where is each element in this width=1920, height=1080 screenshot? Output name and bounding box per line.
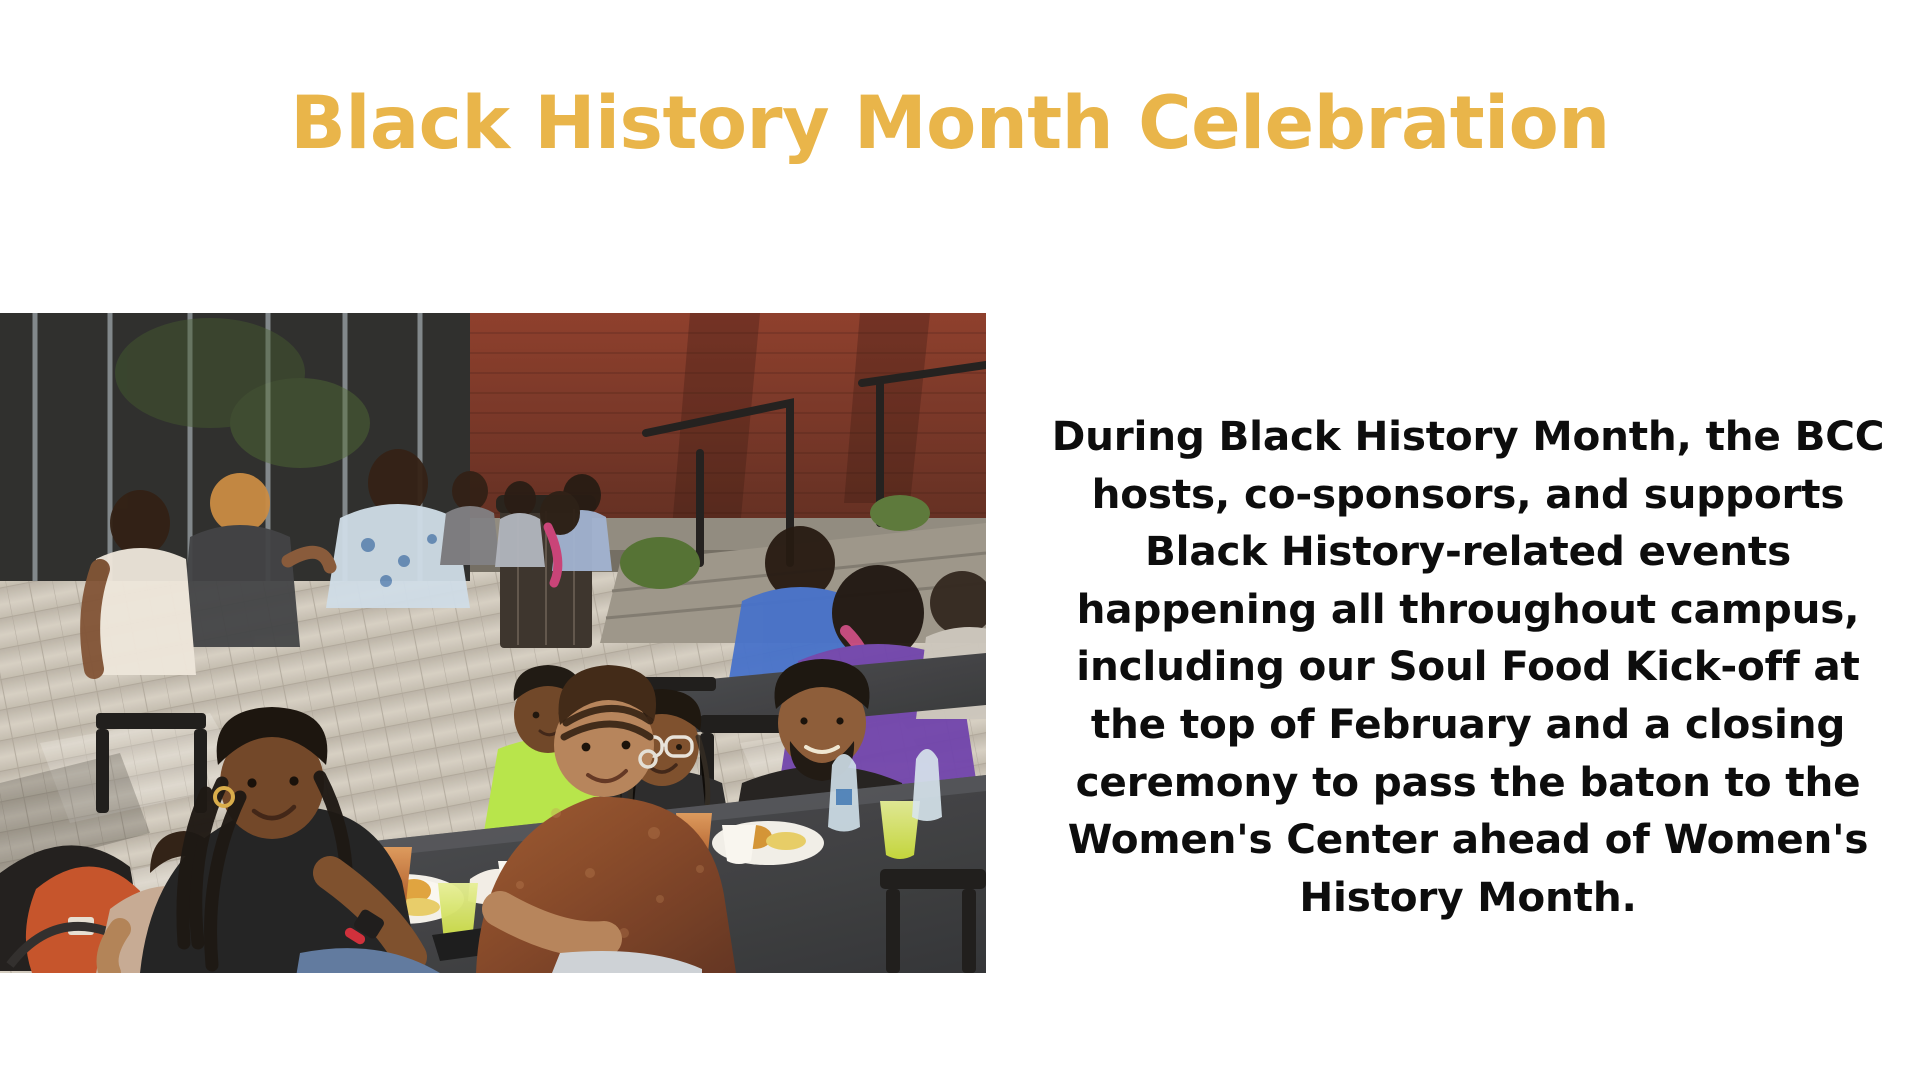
event-photo-illustration: VANDERBILT (0, 313, 986, 973)
slide-canvas: Black History Month Celebration (0, 0, 1920, 1080)
body-paragraph: During Black History Month, the BCC host… (1040, 408, 1896, 926)
event-photo: VANDERBILT (0, 313, 986, 973)
page-title: Black History Month Celebration (0, 85, 1900, 164)
